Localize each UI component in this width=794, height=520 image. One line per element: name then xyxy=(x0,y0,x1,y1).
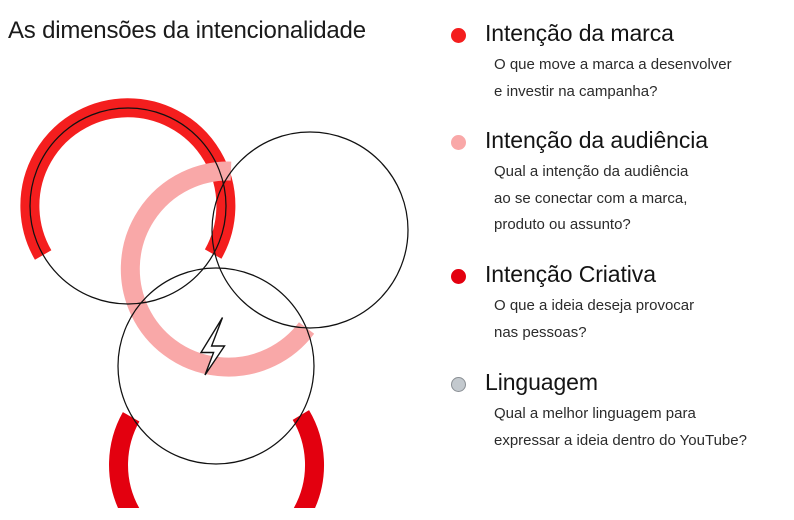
legend-item-creative[interactable]: Intenção Criativa O que a ideia deseja p… xyxy=(449,259,789,347)
legend-bullet-language-icon xyxy=(451,377,466,392)
legend-bullet-brand-icon xyxy=(451,28,466,43)
legend-title-language: Linguagem xyxy=(485,367,789,398)
infographic-page: As dimensões da intencionalidade xyxy=(0,0,794,520)
legend-title-brand: Intenção da marca xyxy=(485,18,789,49)
venn-diagram xyxy=(0,88,440,508)
legend-desc-brand: O que move a marca a desenvolver e inves… xyxy=(485,52,789,105)
legend-title-creative: Intenção Criativa xyxy=(485,259,789,290)
legend-desc-line: O que a ideia deseja provocar xyxy=(494,293,789,320)
venn-diagram-svg xyxy=(0,88,440,508)
legend-bullet-audience-icon xyxy=(451,135,466,150)
legend-desc-audience: Qual a intenção da audiência ao se conec… xyxy=(485,159,789,239)
legend-desc-line: ao se conectar com a marca, xyxy=(494,186,789,213)
legend-desc-line: expressar a ideia dentro do YouTube? xyxy=(494,428,789,455)
legend-desc-creative: O que a ideia deseja provocar nas pessoa… xyxy=(485,293,789,346)
legend-title-audience: Intenção da audiência xyxy=(485,125,789,156)
legend-desc-line: Qual a intenção da audiência xyxy=(494,159,789,186)
page-title: As dimensões da intencionalidade xyxy=(8,17,366,45)
legend-desc-language: Qual a melhor linguagem para expressar a… xyxy=(485,401,789,454)
legend-item-language[interactable]: Linguagem Qual a melhor linguagem para e… xyxy=(449,367,789,455)
legend-desc-line: O que move a marca a desenvolver xyxy=(494,52,789,79)
legend-bullet-creative-icon xyxy=(451,269,466,284)
legend-item-brand[interactable]: Intenção da marca O que move a marca a d… xyxy=(449,18,789,106)
legend-desc-line: produto ou assunto? xyxy=(494,212,789,239)
creative-arc xyxy=(119,415,315,508)
audience-circle-outline xyxy=(212,132,408,328)
legend-item-audience[interactable]: Intenção da audiência Qual a intenção da… xyxy=(449,125,789,239)
legend-desc-line: nas pessoas? xyxy=(494,320,789,347)
legend-list: Intenção da marca O que move a marca a d… xyxy=(449,14,789,454)
legend-desc-line: e investir na campanha? xyxy=(494,79,789,106)
legend-desc-line: Qual a melhor linguagem para xyxy=(494,401,789,428)
